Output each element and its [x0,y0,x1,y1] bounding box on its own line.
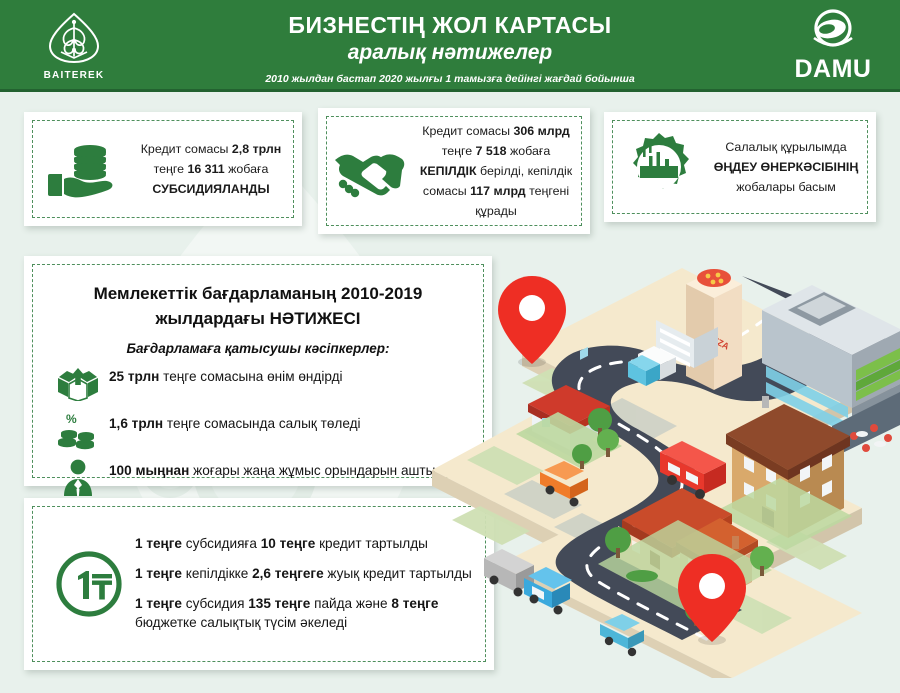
page-title: БИЗНЕСТІҢ ЖОЛ КАРТАСЫ [150,10,750,40]
results-panel-subtitle: Бағдарламаға қатысушы кәсіпкерлер: [47,341,469,356]
gear-factory-icon [613,132,705,202]
one-tenge-coin-icon [43,547,135,621]
stat-card-industry-text: Салалық құрылымдаӨҢДЕУ ӨНЕРКӘСІБІНІҢжоба… [705,137,867,197]
ratio-item: 1 теңге субсидия 135 теңге пайда және 8 … [135,594,475,632]
damu-logo-label: DAMU [778,55,888,84]
baiterek-tree-icon [46,12,102,64]
ratio-panel: 1 теңге субсидияға 10 теңге кредит тарты… [24,498,494,670]
handshake-icon [327,144,411,198]
damu-leaf-icon [802,8,864,52]
results-panel: Мемлекеттік бағдарламаның 2010-2019 жылд… [24,256,492,486]
baiterek-logo-label: BAITEREK [24,70,124,81]
open-box-icon [47,364,109,402]
page-subtitle: аралық нәтижелер [150,40,750,66]
page-period-note: 2010 жылдан бастап 2020 жылғы 1 тамызға … [150,71,750,87]
hand-with-coins-icon [33,138,129,200]
coins-percent-icon: % [47,411,109,449]
stat-card-subsidy-text: Кредит сомасы 2,8 трлнтеңге 16 311 жобағ… [129,139,293,199]
page-header: BAITEREK БИЗНЕСТІҢ ЖОЛ КАРТАСЫ аралық нә… [0,0,900,92]
ratio-item: 1 теңге кепілдікке 2,6 теңгеге жуық кред… [135,564,475,583]
stat-card-guarantee-text: Кредит сомасы 306 млрдтеңге 7 518 жобаға… [411,121,581,221]
result-item-text: 1,6 трлн теңге сомасында салық төледі [109,411,469,433]
header-text-block: БИЗНЕСТІҢ ЖОЛ КАРТАСЫ аралық нәтижелер 2… [150,4,750,87]
bush [626,570,658,582]
results-panel-title: Мемлекеттік бағдарламаның 2010-2019 жылд… [47,281,469,331]
baiterek-logo: BAITEREK [24,12,124,81]
svg-text:%: % [66,412,77,426]
stat-card-industry: Салалық құрылымдаӨҢДЕУ ӨНЕРКӘСІБІНІҢжоба… [604,112,876,222]
result-item-text: 25 трлн теңге сомасына өнім өндірді [109,364,469,386]
ratio-item: 1 теңге субсидияға 10 теңге кредит тарты… [135,534,475,553]
damu-logo: DAMU [778,8,888,84]
isometric-city-map: PIZZA [432,258,900,678]
result-item: 25 трлн теңге сомасына өнім өндірді [47,364,469,402]
result-item: % 1,6 трлн теңге сомасында салық төледі [47,411,469,449]
result-item-text: 100 мыңнан жоғары жаңа жұмыс орындарын а… [109,458,469,480]
ratio-list: 1 теңге субсидияға 10 теңге кредит тарты… [135,525,475,643]
result-item: 100 мыңнан жоғары жаңа жұмыс орындарын а… [47,458,469,496]
businessman-icon [47,458,109,496]
infographic-canvas: BAITEREK БИЗНЕСТІҢ ЖОЛ КАРТАСЫ аралық нә… [0,0,900,693]
stat-card-guarantee: Кредит сомасы 306 млрдтеңге 7 518 жобаға… [318,108,590,234]
stat-card-subsidy: Кредит сомасы 2,8 трлнтеңге 16 311 жобағ… [24,112,302,226]
